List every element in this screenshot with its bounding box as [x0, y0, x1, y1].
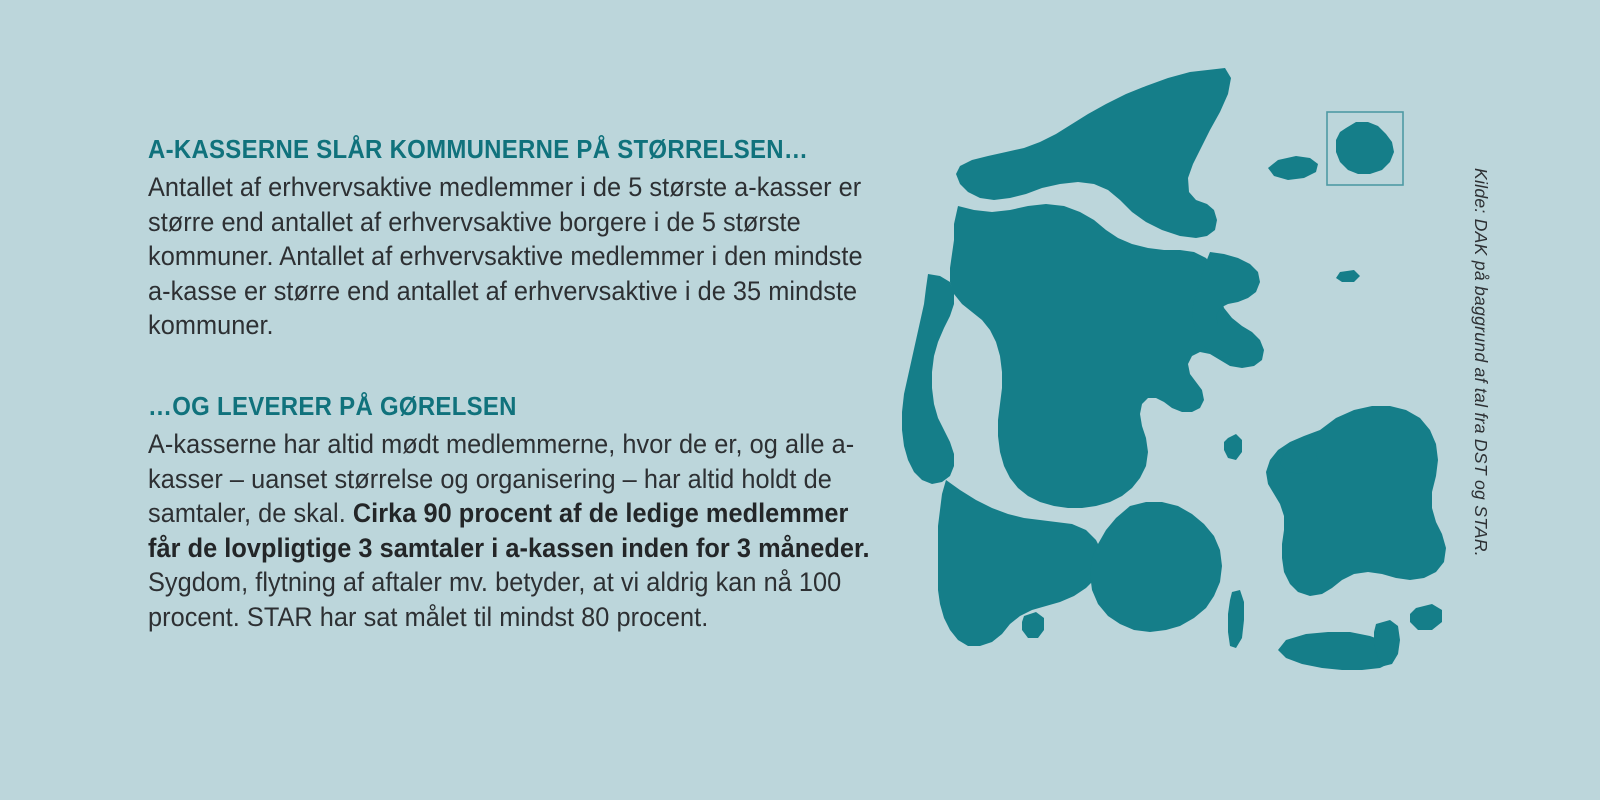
- section-1-heading: A-KASSERNE SLÅR KOMMUNERNE PÅ STØRRELSEN…: [148, 136, 862, 165]
- section-2-paragraph: A-kasserne har altid mødt medlemmerne, h…: [148, 427, 874, 634]
- map-region-mid-jutland: [950, 204, 1264, 508]
- map-island-laeso: [1268, 156, 1318, 180]
- map-island-samso: [1224, 434, 1242, 460]
- infographic-canvas: A-KASSERNE SLÅR KOMMUNERNE PÅ STØRRELSEN…: [0, 0, 1600, 800]
- map-region-funen: [1090, 502, 1222, 632]
- section-1-paragraph: Antallet af erhvervsaktive medlemmer i d…: [148, 170, 874, 343]
- map-region-west-jutland: [902, 274, 954, 484]
- map-island-bornholm: [1336, 122, 1394, 174]
- section-block-2: …OG LEVERER PÅ GØRELSEN A-kasserne har a…: [148, 393, 908, 634]
- section-2-heading: …OG LEVERER PÅ GØRELSEN: [148, 393, 862, 422]
- text-column: A-KASSERNE SLÅR KOMMUNERNE PÅ STØRRELSEN…: [148, 136, 908, 634]
- section-block-1: A-KASSERNE SLÅR KOMMUNERNE PÅ STØRRELSEN…: [148, 136, 908, 343]
- map-island-als: [1022, 612, 1044, 638]
- map-region-zealand: [1266, 406, 1446, 596]
- map-island-mon: [1410, 604, 1442, 630]
- map-island-langeland: [1228, 590, 1244, 648]
- denmark-map: [880, 60, 1520, 740]
- map-island-anholt: [1336, 270, 1360, 282]
